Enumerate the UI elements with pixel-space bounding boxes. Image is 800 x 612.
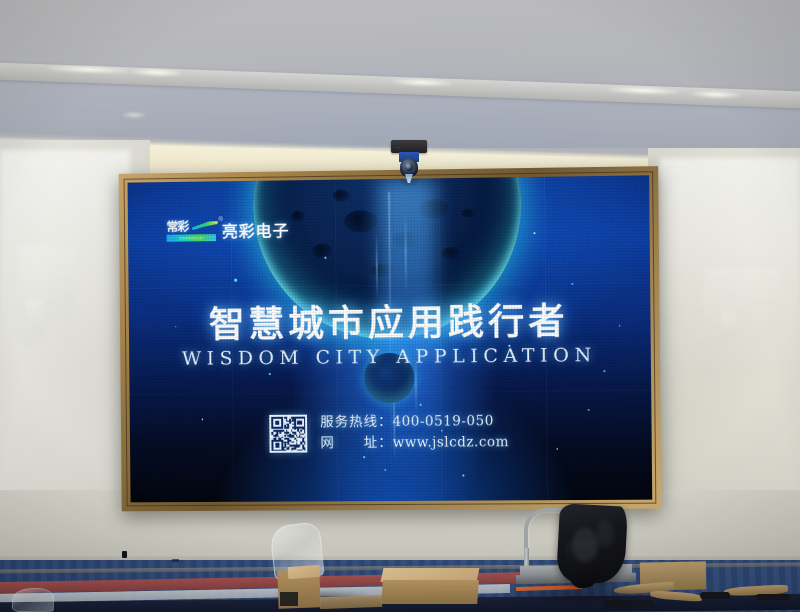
- dark-debris: [756, 594, 790, 600]
- small-debris: [172, 559, 179, 562]
- registered-mark: ®: [218, 217, 222, 223]
- website-line: 网 址：www.jslcdz.com: [320, 433, 509, 455]
- photo-scene: 常彩 ® CHANGCAI 亮彩电子 智慧城市应用践行者 WISDOM CITY…: [0, 0, 800, 612]
- headline-english: WISDOM CITY APPLICATION: [129, 343, 651, 370]
- led-video-wall[interactable]: 常彩 ® CHANGCAI 亮彩电子 智慧城市应用践行者 WISDOM CITY…: [119, 166, 662, 511]
- camera-tail: [404, 174, 414, 183]
- camera-lens: [405, 163, 413, 171]
- slide-headline: 智慧城市应用践行者 WISDOM CITY APPLICATION: [129, 302, 651, 370]
- qr-code[interactable]: [269, 415, 307, 453]
- contact-block: 服务热线：400-0519-050 网 址：www.jslcdz.com: [130, 410, 652, 456]
- logo-mark-text: 常彩: [166, 221, 188, 233]
- jacket-fold: [596, 520, 614, 548]
- logo-bar: CHANGCAI: [167, 234, 216, 242]
- hotline-label: 服务热线：: [320, 414, 392, 431]
- small-debris: [122, 551, 127, 558]
- downlight-reflection: [122, 112, 146, 118]
- brand-wordmark: 亮彩电子: [222, 217, 290, 242]
- website-value: www.jslcdz.com: [393, 435, 509, 452]
- camera-icon: ···: [391, 140, 427, 182]
- wall-right-reflection: [722, 312, 736, 346]
- cardboard-box-flat-side: [381, 580, 479, 604]
- brand-logo: 常彩 ® CHANGCAI 亮彩电子: [166, 217, 289, 242]
- wall-left-reflection: [26, 300, 44, 350]
- cardboard-sheet: [320, 595, 382, 609]
- hotline-line: 服务热线：400-0519-050: [320, 412, 509, 434]
- wall-right-reflection: [704, 268, 782, 378]
- hotline-value: 400-0519-050: [393, 414, 494, 431]
- logo-mark-icon: 常彩 ® CHANGCAI: [166, 220, 216, 242]
- jacket-fold: [572, 528, 598, 562]
- dark-debris: [700, 592, 730, 599]
- logo-bar-text: CHANGCAI: [168, 235, 215, 241]
- screen-surface[interactable]: 常彩 ® CHANGCAI 亮彩电子 智慧城市应用践行者 WISDOM CITY…: [128, 175, 653, 502]
- website-label: 网 址：: [320, 435, 392, 451]
- cardboard-box-lid: [288, 565, 321, 579]
- dark-object: [280, 592, 298, 606]
- logo-swoosh-icon: [192, 221, 218, 230]
- contact-text: 服务热线：400-0519-050 网 址：www.jslcdz.com: [320, 412, 509, 455]
- headline-chinese: 智慧城市应用践行者: [129, 302, 651, 345]
- plastic-debris: [12, 588, 54, 612]
